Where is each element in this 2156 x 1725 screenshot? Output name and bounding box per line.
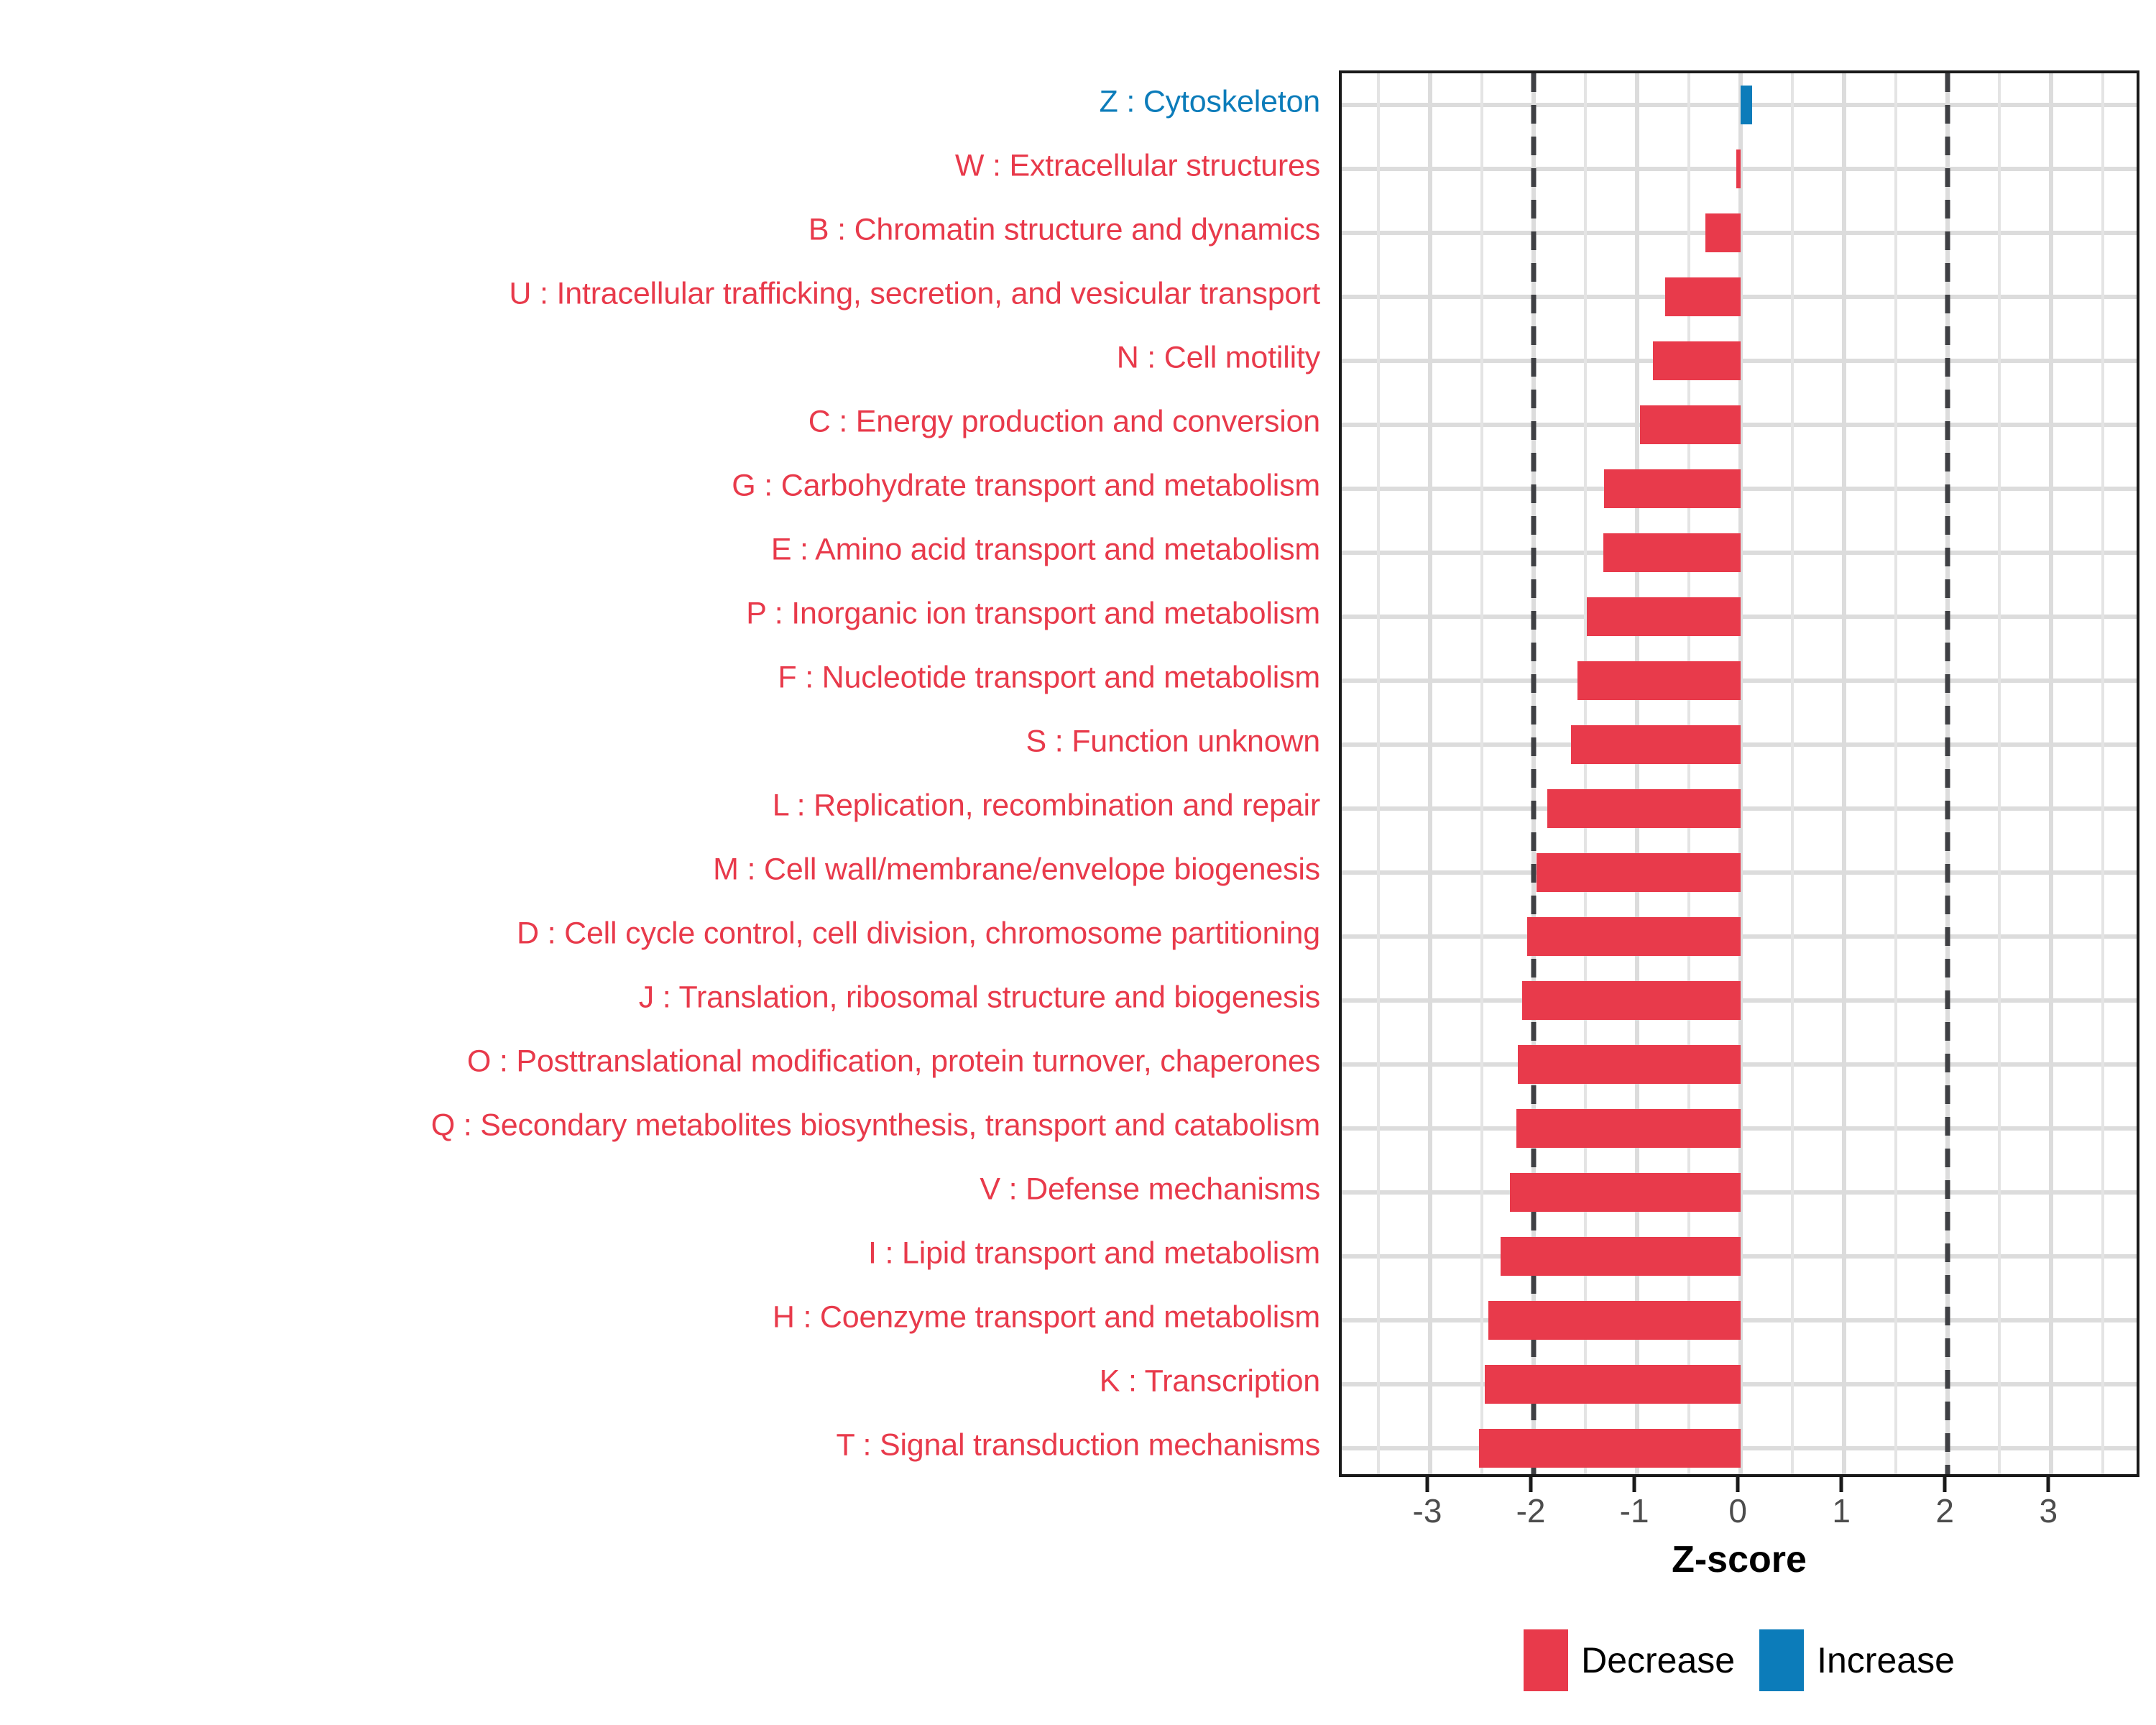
bar[interactable] <box>1653 341 1741 380</box>
gridline-vertical-major <box>1842 73 1846 1474</box>
y-axis-category-label: U : Intracellular trafficking, secretion… <box>509 279 1320 310</box>
gridline-vertical-minor <box>1998 73 2001 1474</box>
x-tick-label: -3 <box>1413 1494 1442 1527</box>
x-tick-label: 1 <box>1832 1494 1851 1527</box>
y-axis-category-label: G : Carbohydrate transport and metabolis… <box>732 471 1320 502</box>
bar[interactable] <box>1510 1173 1741 1212</box>
gridline-vertical-major <box>2049 73 2053 1474</box>
bar[interactable] <box>1571 725 1741 764</box>
gridline-vertical-minor <box>1480 73 1483 1474</box>
x-tick-mark <box>1633 1477 1636 1492</box>
legend-label-increase: Increase <box>1817 1642 1955 1678</box>
y-axis-category-label: M : Cell wall/membrane/envelope biogenes… <box>713 854 1320 885</box>
bar[interactable] <box>1479 1429 1741 1468</box>
gridline-vertical-minor <box>1377 73 1380 1474</box>
bar[interactable] <box>1577 661 1741 700</box>
bar[interactable] <box>1485 1365 1741 1404</box>
y-axis-category-label: D : Cell cycle control, cell division, c… <box>517 918 1320 949</box>
y-axis-category-label: P : Inorganic ion transport and metaboli… <box>746 599 1320 630</box>
chart-legend: Decrease Increase <box>1339 1621 2139 1700</box>
bar[interactable] <box>1537 853 1741 892</box>
x-tick-label: -2 <box>1516 1494 1546 1527</box>
y-axis-category-label: B : Chromatin structure and dynamics <box>808 215 1320 246</box>
legend-label-decrease: Decrease <box>1581 1642 1735 1678</box>
y-axis-category-label: V : Defense mechanisms <box>980 1174 1320 1205</box>
bar[interactable] <box>1736 149 1741 188</box>
y-axis-category-label: L : Replication, recombination and repai… <box>773 790 1320 821</box>
gridline-vertical-minor <box>1791 73 1794 1474</box>
legend-swatch-decrease-icon <box>1524 1629 1568 1691</box>
bar[interactable] <box>1516 1109 1741 1148</box>
plot-panel <box>1339 70 2139 1477</box>
plot-area <box>1342 73 2137 1474</box>
bar[interactable] <box>1665 277 1741 316</box>
x-axis-title: Z-score <box>1339 1538 2139 1581</box>
x-tick-mark <box>1840 1477 1843 1492</box>
y-axis-category-label: K : Transcription <box>1100 1366 1320 1397</box>
bar[interactable] <box>1604 469 1741 508</box>
bar[interactable] <box>1488 1301 1741 1340</box>
y-axis-category-label: N : Cell motility <box>1117 343 1320 374</box>
bar[interactable] <box>1501 1237 1741 1276</box>
y-axis-category-label: I : Lipid transport and metabolism <box>868 1238 1320 1269</box>
y-axis-category-label: T : Signal transduction mechanisms <box>836 1430 1320 1460</box>
y-axis-category-label: C : Energy production and conversion <box>808 407 1320 438</box>
y-axis-category-label: E : Amino acid transport and metabolism <box>771 535 1320 566</box>
legend-swatch-increase-icon <box>1759 1629 1804 1691</box>
bar[interactable] <box>1640 405 1741 444</box>
y-axis-category-label: S : Function unknown <box>1026 727 1320 758</box>
y-axis-category-label: J : Translation, ribosomal structure and… <box>639 982 1320 1013</box>
x-tick-mark <box>1736 1477 1740 1492</box>
bar[interactable] <box>1603 533 1741 572</box>
bar[interactable] <box>1547 789 1741 828</box>
y-axis-category-label: H : Coenzyme transport and metabolism <box>773 1302 1320 1333</box>
bar[interactable] <box>1518 1045 1741 1084</box>
x-tick-label: 0 <box>1728 1494 1747 1527</box>
bar[interactable] <box>1587 597 1741 636</box>
threshold-line <box>1945 73 1950 1474</box>
x-tick-mark <box>1426 1477 1429 1492</box>
y-axis-category-label: W : Extracellular structures <box>955 151 1320 182</box>
gridline-vertical-major <box>1428 73 1432 1474</box>
y-axis-category-label: O : Posttranslational modification, prot… <box>467 1046 1320 1077</box>
y-axis-category-label: Q : Secondary metabolites biosynthesis, … <box>431 1110 1320 1141</box>
y-axis-category-label: Z : Cytoskeleton <box>1100 87 1320 118</box>
gridline-vertical-minor <box>2101 73 2104 1474</box>
bar[interactable] <box>1522 981 1741 1020</box>
bar[interactable] <box>1527 917 1741 956</box>
bar[interactable] <box>1741 86 1752 124</box>
x-tick-mark <box>1943 1477 1947 1492</box>
x-tick-mark <box>1529 1477 1533 1492</box>
x-tick-label: 2 <box>1935 1494 1954 1527</box>
x-tick-label: 3 <box>2039 1494 2058 1527</box>
y-axis-category-label: F : Nucleotide transport and metabolism <box>778 663 1320 694</box>
legend-item-decrease[interactable]: Decrease <box>1524 1629 1735 1691</box>
gridline-vertical-minor <box>1894 73 1897 1474</box>
bar[interactable] <box>1705 213 1741 252</box>
x-tick-mark <box>2047 1477 2050 1492</box>
x-tick-label: -1 <box>1620 1494 1649 1527</box>
cog-zscore-bar-chart: Z : CytoskeletonW : Extracellular struct… <box>0 0 2156 1725</box>
y-axis-category-labels: Z : CytoskeletonW : Extracellular struct… <box>0 70 1330 1477</box>
legend-item-increase[interactable]: Increase <box>1759 1629 1955 1691</box>
